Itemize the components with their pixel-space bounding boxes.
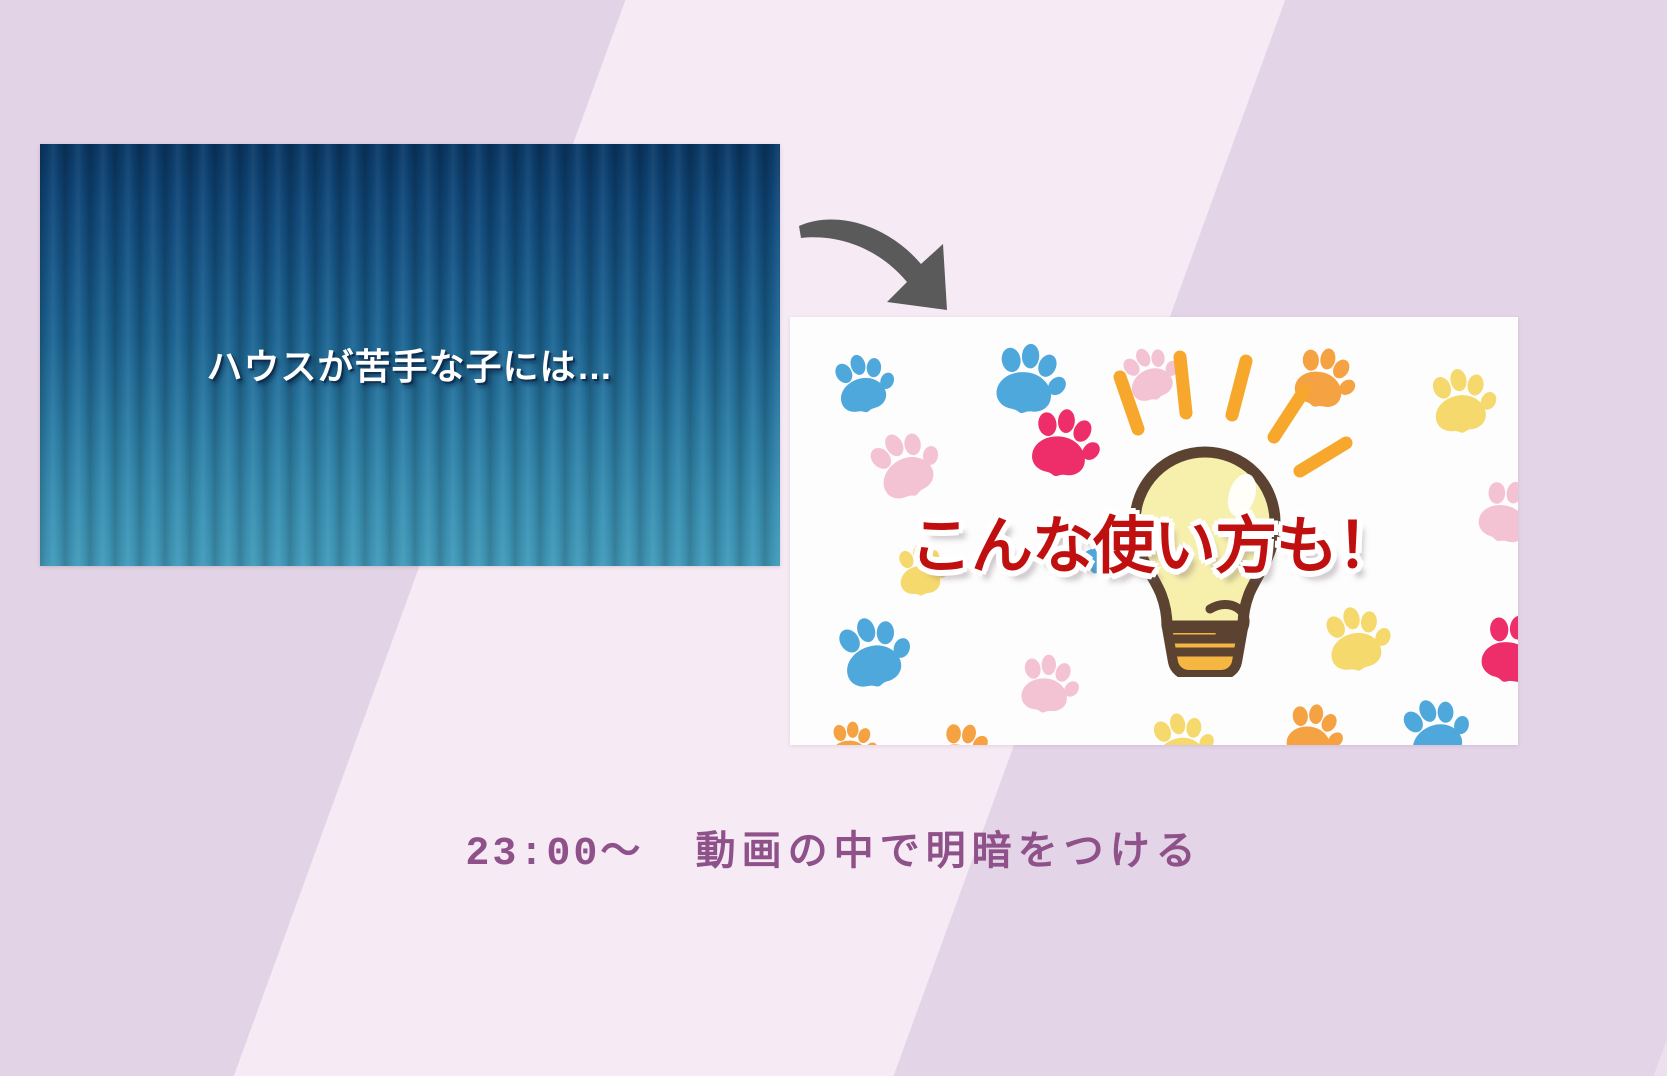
left-slide-thumbnail[interactable]: ハウスが苦手な子には… bbox=[40, 144, 780, 566]
paw-print-icon bbox=[1268, 695, 1351, 745]
paw-print-icon bbox=[1138, 706, 1222, 745]
timestamp-caption: 23:00〜 動画の中で明暗をつける bbox=[0, 818, 1667, 877]
paw-print-icon bbox=[819, 345, 905, 433]
paw-print-icon bbox=[819, 605, 925, 713]
paw-print-icon bbox=[819, 717, 882, 745]
timestamp-value: 23:00〜 bbox=[465, 832, 643, 877]
right-slide-thumbnail[interactable]: こんな使い方も！ bbox=[790, 317, 1518, 745]
paw-print-icon bbox=[916, 711, 1003, 745]
left-slide-caption: ハウスが苦手な子には… bbox=[40, 338, 780, 390]
paw-print-icon bbox=[1416, 362, 1503, 452]
caption-text: 動画の中で明暗をつける bbox=[696, 829, 1202, 873]
right-slide-title: こんな使い方も！ bbox=[790, 495, 1518, 585]
paw-print-icon bbox=[1385, 686, 1486, 745]
screenshot-canvas: ハウスが苦手な子には… bbox=[0, 0, 1667, 1076]
curved-arrow bbox=[795, 198, 975, 323]
paw-print-icon bbox=[1459, 603, 1518, 708]
